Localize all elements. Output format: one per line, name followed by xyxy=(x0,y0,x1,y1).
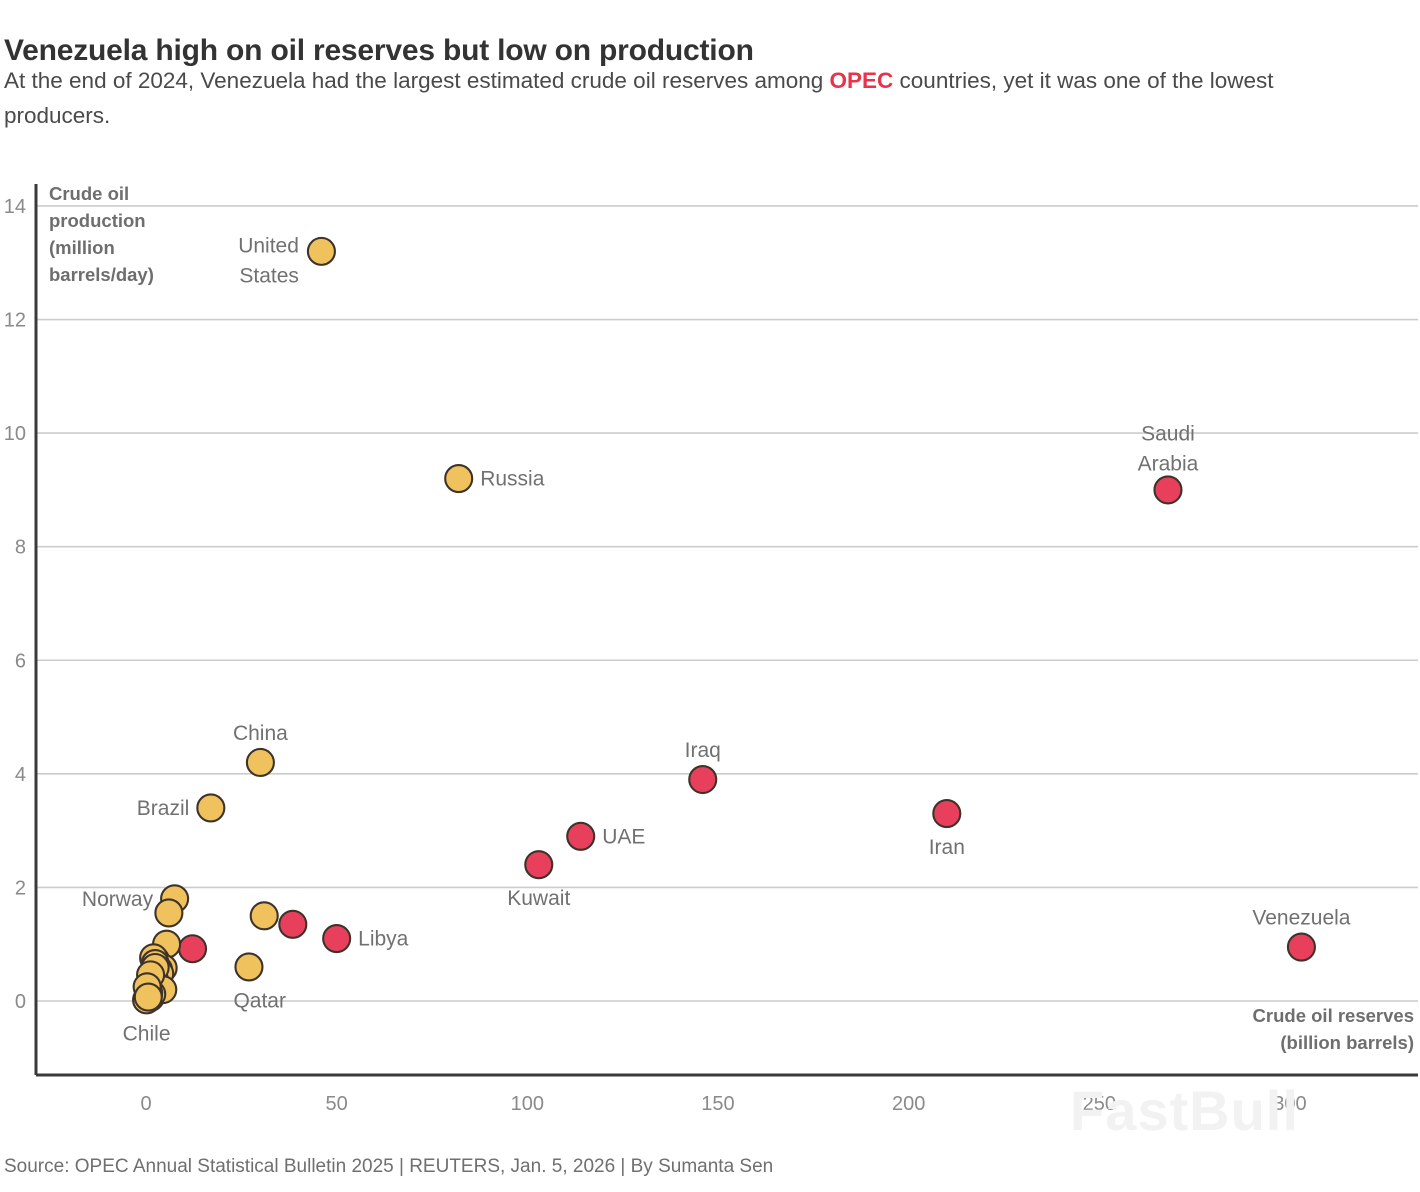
data-point-marker xyxy=(689,766,716,793)
x-axis-title-line: Crude oil reserves xyxy=(1253,1005,1414,1026)
data-point-label: Chile xyxy=(123,1022,171,1045)
data-point-marker xyxy=(279,911,306,938)
y-axis-title-line: production xyxy=(49,210,146,231)
data-point-label: Kuwait xyxy=(507,887,570,910)
data-point-marker xyxy=(251,902,278,929)
x-tick-label: 0 xyxy=(140,1093,151,1110)
x-tick-label: 300 xyxy=(1273,1093,1306,1110)
data-point-marker xyxy=(1154,476,1181,503)
data-point-label: Libya xyxy=(358,928,409,951)
data-point: Brazil xyxy=(137,794,225,821)
data-point-marker xyxy=(155,899,182,926)
data-point xyxy=(135,984,162,1011)
data-point xyxy=(155,899,182,926)
y-tick-label: 4 xyxy=(15,764,26,786)
data-point: Qatar xyxy=(233,953,286,1012)
data-point-label: Iraq xyxy=(685,739,721,762)
data-point: Iran xyxy=(929,800,965,859)
data-point-marker xyxy=(525,851,552,878)
data-point-label: Brazil xyxy=(137,797,190,820)
data-point-marker xyxy=(197,794,224,821)
x-tick-label: 50 xyxy=(326,1093,348,1110)
data-point-marker xyxy=(1288,934,1315,961)
data-point-label: Arabia xyxy=(1138,452,1199,475)
y-tick-label: 8 xyxy=(15,537,26,559)
x-tick-label: 250 xyxy=(1083,1093,1116,1110)
data-point-marker xyxy=(235,953,262,980)
data-point-label: Venezuela xyxy=(1252,907,1350,930)
data-point: SaudiArabia xyxy=(1138,422,1199,503)
data-point-label: Iran xyxy=(929,836,965,859)
x-axis-title-line: (billion barrels) xyxy=(1280,1032,1414,1053)
y-tick-label: 2 xyxy=(15,877,26,899)
data-point-label: States xyxy=(239,264,299,287)
data-point: Iraq xyxy=(685,739,721,793)
data-point-label: Qatar xyxy=(233,989,286,1012)
data-point: Kuwait xyxy=(507,851,570,910)
y-axis-title-line: barrels/day) xyxy=(49,264,154,285)
data-point-marker xyxy=(933,800,960,827)
y-tick-label: 12 xyxy=(4,310,26,332)
data-point: Venezuela xyxy=(1252,907,1350,961)
y-axis-title-line: Crude oil xyxy=(49,183,129,204)
data-point: Russia xyxy=(445,465,545,492)
data-point-marker xyxy=(445,465,472,492)
data-point-marker xyxy=(323,925,350,952)
x-tick-label: 100 xyxy=(511,1093,544,1110)
data-point-label: Norway xyxy=(82,888,154,911)
data-point: Libya xyxy=(323,925,409,952)
y-tick-label: 0 xyxy=(15,991,26,1013)
data-point-marker xyxy=(567,823,594,850)
data-point-label: Saudi xyxy=(1141,422,1195,445)
data-point-label: UAE xyxy=(602,825,645,848)
data-point-marker xyxy=(247,749,274,776)
y-tick-label: 14 xyxy=(4,196,26,218)
data-point xyxy=(251,902,278,929)
data-point: China xyxy=(233,722,288,776)
x-tick-label: 200 xyxy=(892,1093,925,1110)
scatter-chart: 02468101214050100150200250300Crude oilpr… xyxy=(0,0,1420,1110)
data-point-label: Russia xyxy=(480,468,545,491)
source-note: Source: OPEC Annual Statistical Bulletin… xyxy=(4,1156,773,1178)
data-point-marker xyxy=(135,984,162,1011)
data-point xyxy=(179,935,206,962)
y-axis-title-line: (million xyxy=(49,237,115,258)
y-tick-label: 6 xyxy=(15,650,26,672)
data-point-marker xyxy=(179,935,206,962)
data-point: UnitedStates xyxy=(238,234,335,287)
x-tick-label: 150 xyxy=(701,1093,734,1110)
data-point: UAE xyxy=(567,823,645,850)
data-point-label: China xyxy=(233,722,288,745)
data-point-marker xyxy=(308,238,335,265)
y-tick-label: 10 xyxy=(4,423,26,445)
chart-page: Venezuela high on oil reserves but low o… xyxy=(0,0,1420,1192)
data-point xyxy=(279,911,306,938)
data-point-label: United xyxy=(238,234,299,257)
